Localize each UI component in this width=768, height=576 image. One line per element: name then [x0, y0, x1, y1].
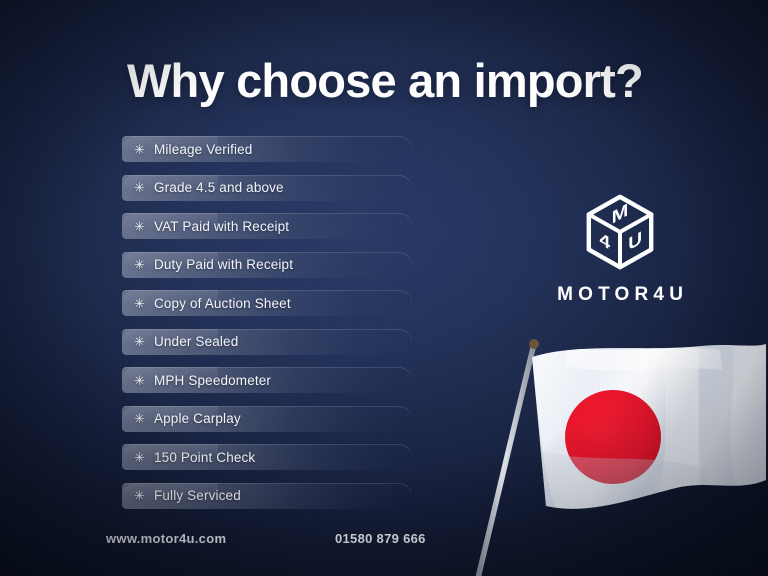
brand-wordmark: MOTOR4U	[545, 284, 695, 306]
list-item: ✳ Under Sealed	[122, 329, 412, 355]
list-item-label: Mileage Verified	[154, 142, 252, 157]
list-item: ✳ 150 Point Check	[122, 444, 412, 470]
list-item: ✳ Duty Paid with Receipt	[122, 252, 412, 278]
asterisk-icon: ✳	[132, 258, 147, 271]
list-item: ✳ Apple Carplay	[122, 406, 412, 432]
asterisk-icon: ✳	[132, 335, 147, 348]
list-item-label: Copy of Auction Sheet	[154, 296, 291, 311]
brand-block: M 4 U MOTOR4U	[545, 192, 695, 306]
asterisk-icon: ✳	[132, 412, 147, 425]
svg-text:4: 4	[599, 229, 610, 254]
list-item-label: Fully Serviced	[154, 488, 241, 503]
japan-flag	[470, 330, 768, 576]
asterisk-icon: ✳	[132, 489, 147, 502]
footer-website[interactable]: www.motor4u.com	[106, 531, 226, 546]
list-item: ✳ VAT Paid with Receipt	[122, 213, 412, 239]
asterisk-icon: ✳	[132, 181, 147, 194]
list-item-label: MPH Speedometer	[154, 373, 271, 388]
list-item: ✳ Fully Serviced	[122, 483, 412, 509]
list-item-label: Grade 4.5 and above	[154, 180, 284, 195]
feature-list: ✳ Mileage Verified ✳ Grade 4.5 and above…	[122, 136, 412, 521]
list-item-label: 150 Point Check	[154, 450, 255, 465]
asterisk-icon: ✳	[132, 451, 147, 464]
list-item-label: Under Sealed	[154, 334, 238, 349]
list-item-label: Apple Carplay	[154, 411, 241, 426]
svg-text:U: U	[628, 228, 642, 255]
promo-poster: Why choose an import? ✳ Mileage Verified…	[0, 0, 768, 576]
page-title: Why choose an import?	[127, 56, 643, 105]
svg-text:M: M	[612, 200, 629, 228]
asterisk-icon: ✳	[132, 297, 147, 310]
asterisk-icon: ✳	[132, 143, 147, 156]
asterisk-icon: ✳	[132, 374, 147, 387]
list-item: ✳ MPH Speedometer	[122, 367, 412, 393]
list-item-label: VAT Paid with Receipt	[154, 219, 289, 234]
list-item: ✳ Grade 4.5 and above	[122, 175, 412, 201]
list-item: ✳ Copy of Auction Sheet	[122, 290, 412, 316]
list-item-label: Duty Paid with Receipt	[154, 257, 293, 272]
flag-cloth	[518, 335, 768, 515]
flag-pole	[478, 339, 539, 576]
motor4u-cube-logo-icon: M 4 U	[580, 192, 660, 272]
asterisk-icon: ✳	[132, 220, 147, 233]
footer-phone[interactable]: 01580 879 666	[335, 531, 426, 546]
list-item: ✳ Mileage Verified	[122, 136, 412, 162]
